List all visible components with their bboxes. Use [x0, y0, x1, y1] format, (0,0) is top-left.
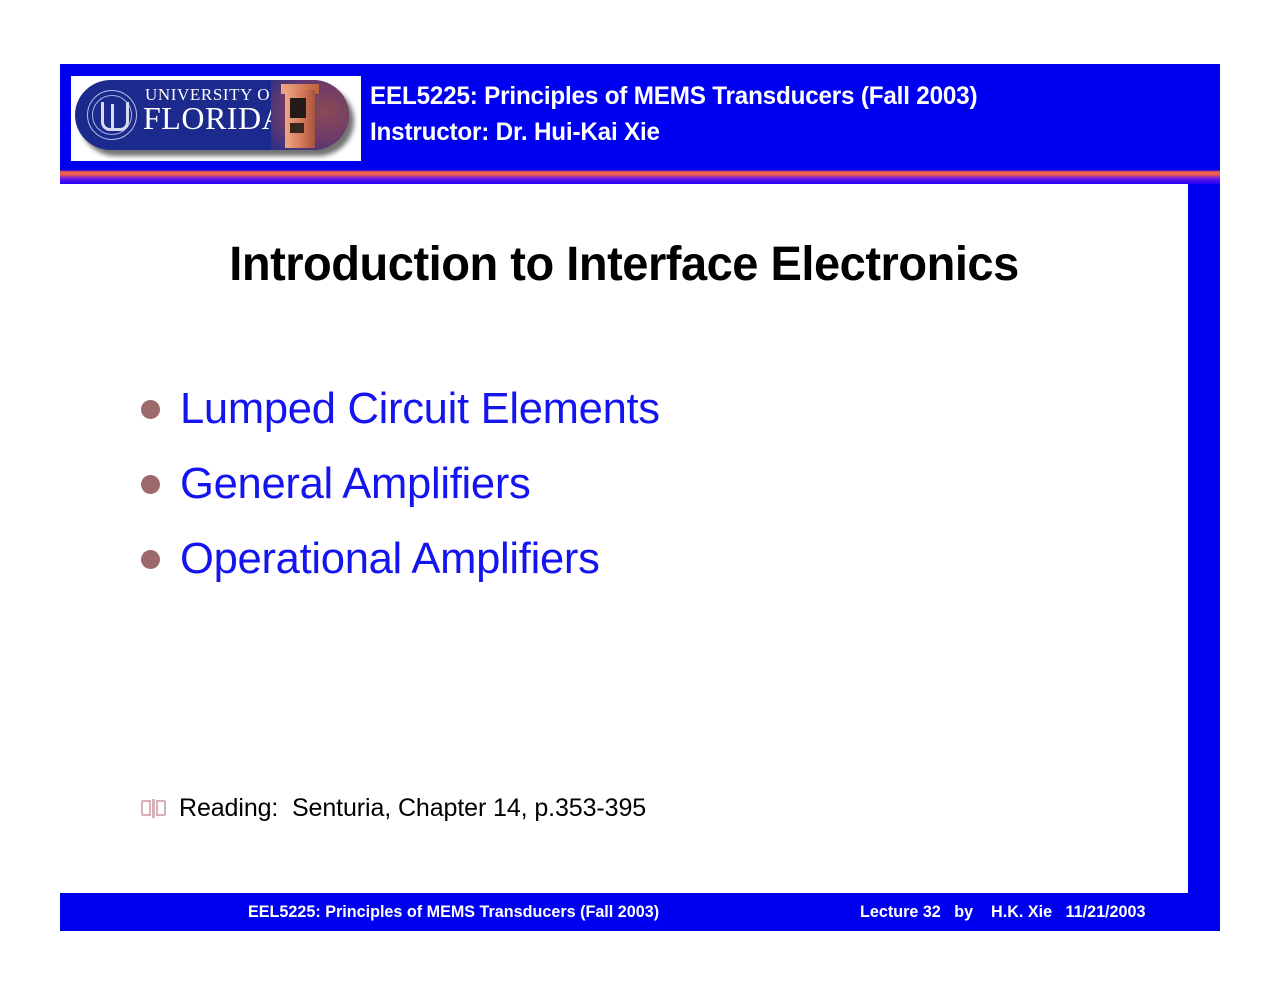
bullet-dot-icon	[141, 400, 160, 419]
footer-course-label: EEL5225: Principles of MEMS Transducers …	[248, 902, 659, 922]
page-title: Introduction to Interface Electronics	[71, 236, 1176, 294]
list-item: Operational Amplifiers	[141, 528, 1101, 593]
bullet-dot-icon	[141, 550, 160, 569]
open-book-icon	[141, 799, 166, 818]
right-accent-bar	[1188, 184, 1220, 893]
list-item: General Amplifiers	[141, 453, 1101, 518]
reading-assignment: Reading: Senturia, Chapter 14, p.353-395	[141, 793, 646, 823]
list-item: Lumped Circuit Elements	[141, 378, 1101, 443]
course-title: EEL5225: Principles of MEMS Transducers …	[370, 78, 977, 114]
seal-emblem	[111, 104, 114, 128]
book-spine	[152, 799, 155, 818]
book-page-left	[141, 800, 151, 816]
list-item-label: Operational Amplifiers	[180, 528, 600, 590]
course-header-text: EEL5225: Principles of MEMS Transducers …	[370, 78, 996, 150]
footer-lecture-label: Lecture 32 by H.K. Xie 11/21/2003	[860, 902, 1145, 922]
book-page-right	[156, 800, 166, 816]
university-logo: UNIVERSITY OF FLORIDA	[71, 76, 361, 161]
uf-seal-icon	[87, 90, 137, 140]
tower-clock-face	[290, 98, 306, 118]
header-divider	[60, 168, 1220, 184]
logo-pill-background: UNIVERSITY OF FLORIDA	[75, 80, 349, 150]
footer-banner: EEL5225: Principles of MEMS Transducers …	[60, 893, 1220, 931]
century-tower-icon	[271, 80, 349, 150]
slide-canvas: UNIVERSITY OF FLORIDA EEL5225: Principle…	[0, 0, 1280, 989]
reading-text: Reading: Senturia, Chapter 14, p.353-395	[179, 793, 646, 823]
bullet-dot-icon	[141, 475, 160, 494]
topic-list: Lumped Circuit Elements General Amplifie…	[141, 378, 1101, 603]
header-banner: UNIVERSITY OF FLORIDA EEL5225: Principle…	[60, 64, 1220, 168]
list-item-label: General Amplifiers	[180, 453, 531, 515]
list-item-label: Lumped Circuit Elements	[180, 378, 660, 440]
tower-window	[290, 123, 304, 133]
instructor-name: Instructor: Dr. Hui-Kai Xie	[370, 114, 977, 150]
